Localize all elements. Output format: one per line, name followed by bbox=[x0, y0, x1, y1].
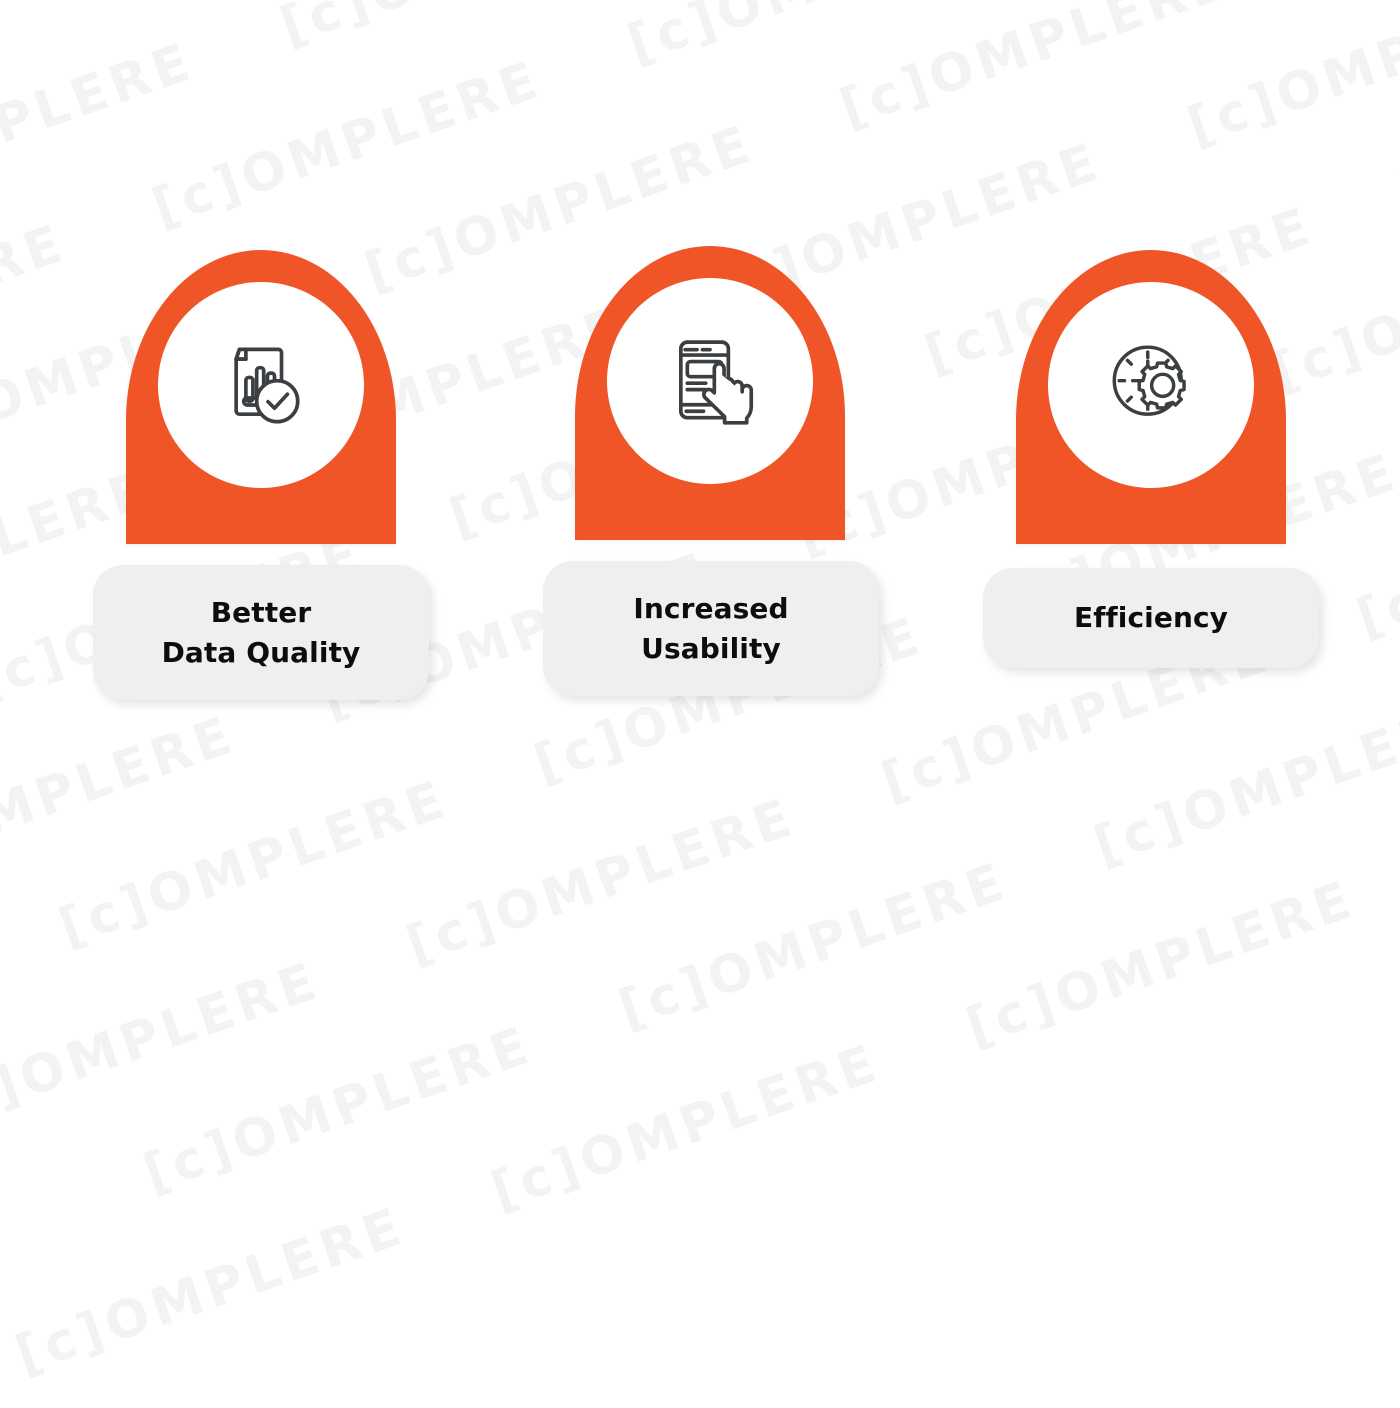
watermark-text: [c]OMPLERE bbox=[960, 873, 1361, 1055]
watermark-text: [c]OMPLERE bbox=[698, 1101, 1099, 1283]
icon-circle-better-data-quality bbox=[158, 282, 364, 488]
watermark-text: [c]OMPLERE bbox=[222, 1265, 623, 1408]
watermark-text: [c]OMPLERE bbox=[138, 1019, 539, 1201]
arch-shape-efficiency bbox=[1016, 250, 1286, 544]
watermark-text: [c]OMPLERE bbox=[485, 1037, 886, 1219]
label-card-increased-usability[interactable]: Increased Usability bbox=[543, 561, 879, 696]
document-bar-chart-check-icon bbox=[207, 331, 315, 439]
watermark-text: [c]OMPLERE bbox=[1173, 937, 1400, 1119]
icon-circle-increased-usability bbox=[607, 278, 813, 484]
arch-shape-better-data-quality bbox=[126, 250, 396, 544]
icon-circle-efficiency bbox=[1048, 282, 1254, 488]
infographic-stage: Better Data Quality bbox=[0, 0, 1400, 900]
label-text-efficiency: Efficiency bbox=[1074, 598, 1228, 638]
clock-gear-icon bbox=[1097, 331, 1205, 439]
label-text-increased-usability: Increased Usability bbox=[633, 589, 788, 669]
tablet-hand-tap-icon bbox=[656, 327, 764, 435]
arch-shape-increased-usability bbox=[575, 246, 845, 540]
watermark-row: [c]OMPLERE[c]OMPLERE[c]OMPLERE[c]OMPLERE… bbox=[52, 844, 1400, 1408]
watermark-text: [c]OMPLERE bbox=[10, 1200, 411, 1382]
watermark-text: [c]OMPLERE bbox=[0, 955, 327, 1137]
label-card-better-data-quality[interactable]: Better Data Quality bbox=[93, 565, 429, 700]
label-card-efficiency[interactable]: Efficiency bbox=[983, 568, 1319, 668]
label-text-better-data-quality: Better Data Quality bbox=[162, 593, 361, 673]
